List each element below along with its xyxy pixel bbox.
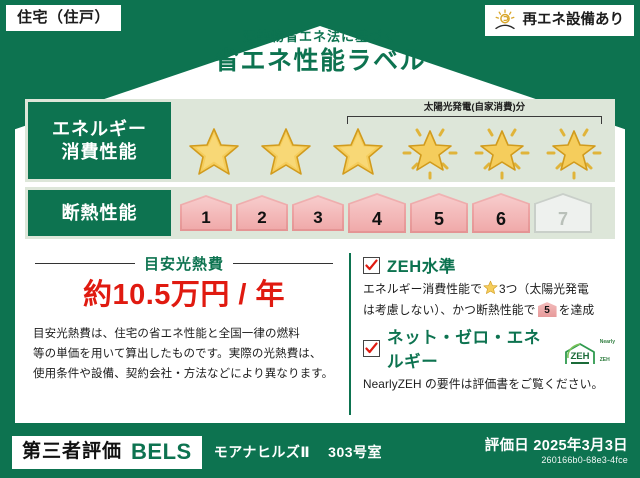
star-1 [178, 123, 250, 181]
star-icon [187, 126, 241, 178]
star-2 [250, 123, 322, 181]
criterion-body-part3: は考慮しない）、かつ断熱性能で [363, 303, 536, 317]
checkmark-icon [363, 257, 380, 274]
evaluation-id: 260166b0-68e3-4fce [485, 455, 628, 466]
zeh-logo-sub: Nearly ZEH [600, 330, 615, 366]
renewable-energy-chip: 再エネ設備あり [485, 5, 635, 36]
star-icon [331, 126, 385, 178]
bels-en-label: BELS [131, 441, 192, 463]
rule-left [35, 263, 135, 265]
insulation-level-2: 2 [236, 195, 288, 231]
star-3 [322, 123, 394, 181]
criterion-title: ネット・ゼロ・エネルギー [387, 324, 550, 372]
cost-value: 約10.5万円 / 年 [25, 280, 343, 312]
insulation-category-label: 断熱性能 [62, 202, 138, 225]
criterion-head: ネット・ゼロ・エネルギー ZEH Nearly ZEH [363, 324, 615, 372]
insulation-level-4: 4 [348, 193, 406, 233]
sun-icon [493, 9, 517, 31]
zeh-sub-line1: Nearly [600, 339, 615, 345]
insulation-level-1: 1 [180, 195, 232, 231]
insulation-level-value: 5 [434, 209, 444, 230]
label-title-block: 建築物省エネ法に基づく 省エネ性能ラベル [0, 30, 640, 76]
star-icon [483, 284, 498, 298]
cost-description-line2: 等の単価を用いて算出したものです。実際の光熱費は、 [33, 344, 335, 364]
rule-right [233, 263, 333, 265]
housing-type-chip: 住宅（住戸） [6, 5, 121, 31]
zeh-house-icon: ZEH [562, 342, 598, 366]
insulation-level-value: 6 [496, 209, 506, 230]
insulation-level-value: 4 [372, 209, 382, 230]
insulation-level-value: 7 [558, 209, 568, 230]
criterion-body-part4: を達成 [559, 303, 595, 317]
label-content: エネルギー 消費性能 太陽光発電(自家消費)分 [25, 99, 615, 423]
criteria-column: ZEH水準 エネルギー消費性能で3つ（太陽光発電 は考慮しない）、かつ断熱性能で… [363, 249, 615, 423]
cost-column: 目安光熱費 約10.5万円 / 年 目安光熱費は、住宅の省エネ性能と全国一律の燃… [25, 249, 343, 423]
housing-type-label: 住宅（住戸） [17, 9, 110, 26]
evaluation-info: 評価日 2025年3月3日 260166b0-68e3-4fce [485, 437, 628, 466]
solar-note-label: 太陽光発電(自家消費)分 [347, 103, 602, 113]
stars-row [174, 121, 615, 182]
star-icon [259, 126, 313, 178]
insulation-category-box: 断熱性能 [28, 190, 171, 236]
room-number: 303号室 [328, 442, 382, 462]
star-6-solar [538, 123, 610, 181]
criterion-body: エネルギー消費性能で3つ（太陽光発電 は考慮しない）、かつ断熱性能で5を達成 [363, 280, 615, 320]
insulation-level-7-inactive: 7 [534, 193, 592, 233]
cost-heading-row: 目安光熱費 [25, 253, 343, 274]
criterion-head: ZEH水準 [363, 253, 615, 277]
svg-text:ZEH: ZEH [570, 351, 589, 362]
insulation-level-3: 3 [292, 195, 344, 231]
insulation-level-6: 6 [472, 193, 530, 233]
house-badge-value: 5 [538, 302, 557, 317]
insulation-badges: 1 2 3 4 5 [174, 187, 615, 239]
energy-performance-row: エネルギー 消費性能 太陽光発電(自家消費)分 [25, 99, 615, 182]
column-divider [349, 253, 351, 415]
star-4-solar [394, 123, 466, 181]
insulation-level-value: 1 [201, 208, 210, 228]
criterion-body: NearlyZEH の要件は評価書をご覧ください。 [363, 375, 615, 394]
insulation-performance-row: 断熱性能 1 2 3 4 [25, 187, 615, 239]
cost-description: 目安光熱費は、住宅の省エネ性能と全国一律の燃料 等の単価を用いて算出したものです… [25, 324, 343, 384]
criterion-body-part1: エネルギー消費性能で [363, 282, 482, 296]
star-icon [469, 123, 535, 181]
criterion-body-part2: 3つ（太陽光発電 [499, 282, 589, 296]
zeh-sub-line2: ZEH [600, 357, 610, 363]
bels-chip: 第三者評価 BELS [12, 436, 202, 469]
criterion-title: ZEH水準 [387, 253, 456, 277]
insulation-level-value: 3 [313, 208, 322, 228]
cost-description-line1: 目安光熱費は、住宅の省エネ性能と全国一律の燃料 [33, 324, 335, 344]
insulation-level-5: 5 [410, 193, 468, 233]
house-badge-inline: 5 [538, 302, 557, 317]
checkmark-icon [363, 340, 380, 357]
cost-description-line3: 使用条件や設備、契約会社・方法などにより異なります。 [33, 364, 335, 384]
insulation-level-value: 2 [257, 208, 266, 228]
energy-category-box: エネルギー 消費性能 [28, 102, 171, 179]
evaluation-date: 評価日 2025年3月3日 [485, 437, 628, 455]
label-footer: 第三者評価 BELS モアナヒルズⅡ 303号室 評価日 2025年3月3日 2… [0, 426, 640, 478]
energy-stars-area: 太陽光発電(自家消費)分 [174, 99, 615, 182]
bels-jp-label: 第三者評価 [22, 442, 122, 461]
star-icon [397, 123, 463, 181]
energy-category-line2: 消費性能 [62, 141, 138, 164]
energy-label-root: 住宅（住戸） 再エネ設備あり 建築物省エネ法に基づく 省エネ性能ラベル [0, 0, 640, 478]
renewable-label: 再エネ設備あり [523, 13, 625, 28]
criterion-net-zero-energy: ネット・ゼロ・エネルギー ZEH Nearly ZEH [363, 324, 615, 394]
lower-section: 目安光熱費 約10.5万円 / 年 目安光熱費は、住宅の省エネ性能と全国一律の燃… [25, 249, 615, 423]
label-title: 省エネ性能ラベル [0, 48, 640, 76]
building-name: モアナヒルズⅡ [214, 442, 310, 462]
energy-category-line1: エネルギー [52, 118, 147, 141]
zeh-logo: ZEH Nearly ZEH [562, 330, 615, 366]
cost-heading: 目安光熱費 [144, 253, 224, 274]
star-icon [541, 123, 607, 181]
criterion-zeh-standard: ZEH水準 エネルギー消費性能で3つ（太陽光発電 は考慮しない）、かつ断熱性能で… [363, 253, 615, 320]
star-5-solar [466, 123, 538, 181]
